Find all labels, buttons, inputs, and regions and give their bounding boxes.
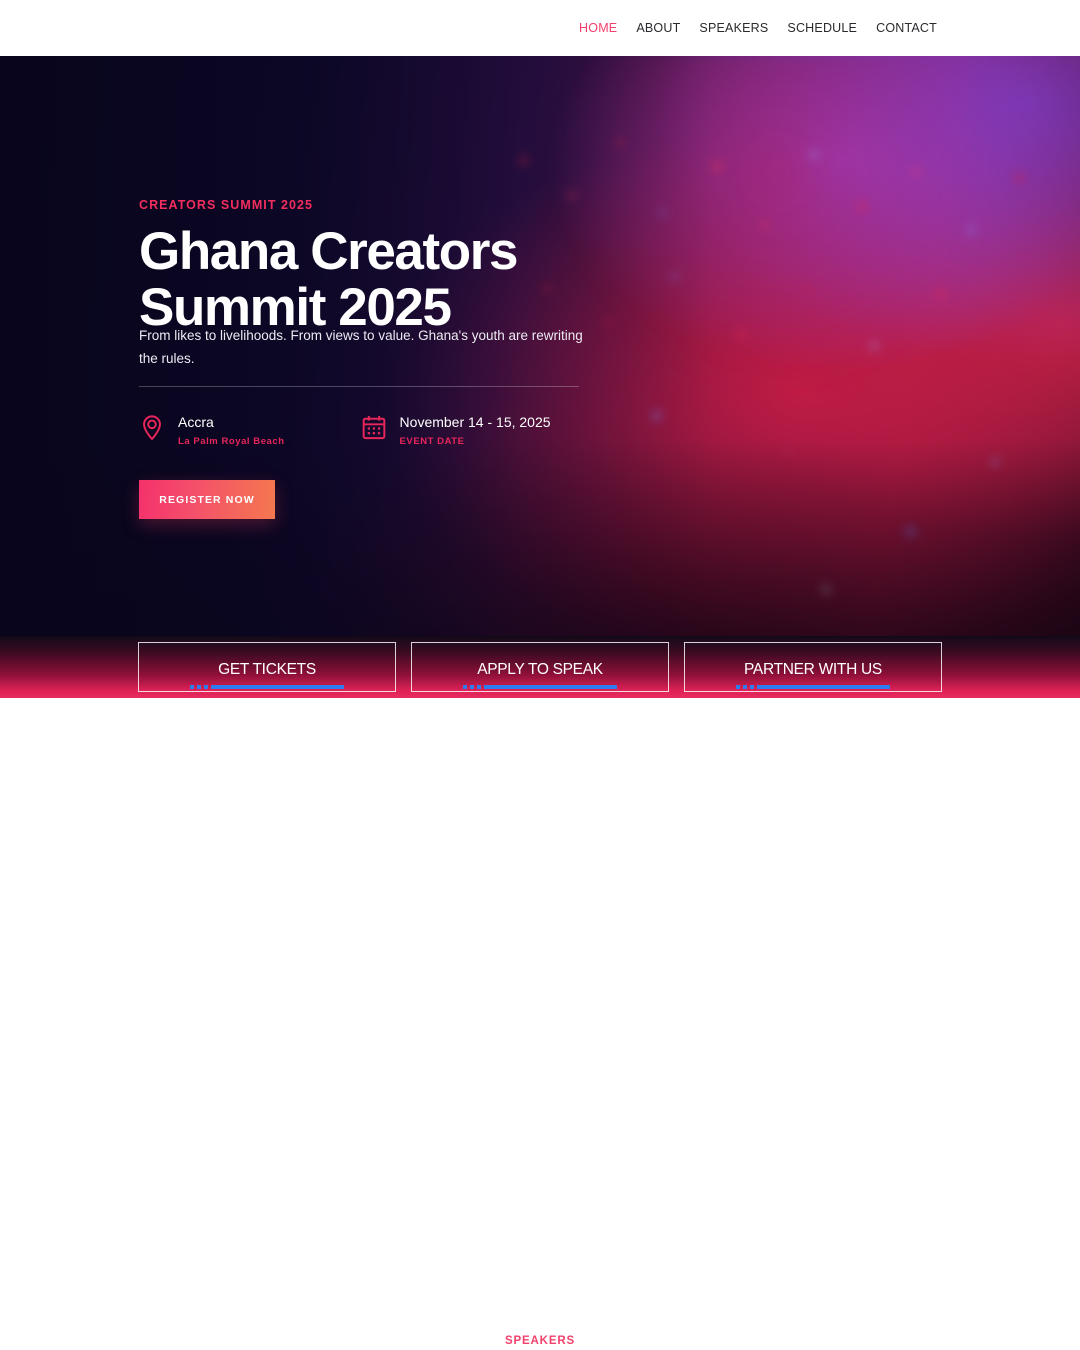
get-tickets-label: GET TICKETS: [218, 661, 316, 679]
hero-meta-row: Accra La Palm Royal Beach: [139, 414, 551, 447]
apply-to-speak-label: APPLY TO SPEAK: [477, 661, 603, 679]
get-tickets-button[interactable]: GET TICKETS: [138, 642, 396, 692]
hero-location-venue: La Palm Royal Beach: [178, 436, 285, 447]
get-tickets-underline: [190, 685, 344, 689]
hero-location-text: Accra La Palm Royal Beach: [178, 414, 285, 447]
hero-date-caption: EVENT DATE: [400, 436, 551, 447]
partner-with-us-button[interactable]: PARTNER WITH US: [684, 642, 942, 692]
hero-location-block: Accra La Palm Royal Beach: [139, 414, 285, 447]
speakers-section-eyebrow-peek: SPEAKERS: [0, 1326, 1080, 1344]
nav-item-speakers[interactable]: SPEAKERS: [699, 21, 768, 35]
hero-divider: [139, 386, 579, 387]
nav-item-home[interactable]: HOME: [579, 21, 617, 35]
hero-date-text: November 14 - 15, 2025 EVENT DATE: [400, 414, 551, 447]
hero-subtitle: From likes to livelihoods. From views to…: [139, 324, 584, 370]
hero-section: CREATORS SUMMIT 2025 Ghana Creators Summ…: [0, 56, 1080, 636]
cta-band: GET TICKETS APPLY TO SPEAK PARTNER WITH …: [0, 636, 1080, 698]
main-navbar: HOME ABOUT SPEAKERS SCHEDULE CONTACT: [0, 0, 1080, 56]
calendar-icon: [361, 414, 387, 442]
nav-item-contact[interactable]: CONTACT: [876, 21, 937, 35]
hero-title: Ghana Creators Summit 2025: [139, 224, 659, 335]
hero-location-city: Accra: [178, 414, 214, 430]
apply-to-speak-underline: [463, 685, 617, 689]
nav-links: HOME ABOUT SPEAKERS SCHEDULE CONTACT: [579, 21, 937, 35]
about-section: ABOUT EVENT An Experience You Will Never…: [0, 698, 1080, 1344]
register-now-button[interactable]: REGISTER NOW: [139, 480, 275, 519]
hero-content: CREATORS SUMMIT 2025 Ghana Creators Summ…: [0, 56, 1080, 636]
speakers-eyebrow: SPEAKERS: [505, 1335, 575, 1344]
apply-to-speak-button[interactable]: APPLY TO SPEAK: [411, 642, 669, 692]
hero-eyebrow: CREATORS SUMMIT 2025: [139, 198, 313, 212]
hero-date-range: November 14 - 15, 2025: [400, 414, 551, 430]
partner-with-us-label: PARTNER WITH US: [744, 661, 882, 679]
hero-date-block: November 14 - 15, 2025 EVENT DATE: [361, 414, 551, 447]
nav-item-schedule[interactable]: SCHEDULE: [787, 21, 857, 35]
partner-with-us-underline: [736, 685, 890, 689]
nav-item-about[interactable]: ABOUT: [636, 21, 680, 35]
hero-title-line-1: Ghana Creators: [139, 222, 517, 281]
map-pin-icon: [139, 414, 165, 442]
